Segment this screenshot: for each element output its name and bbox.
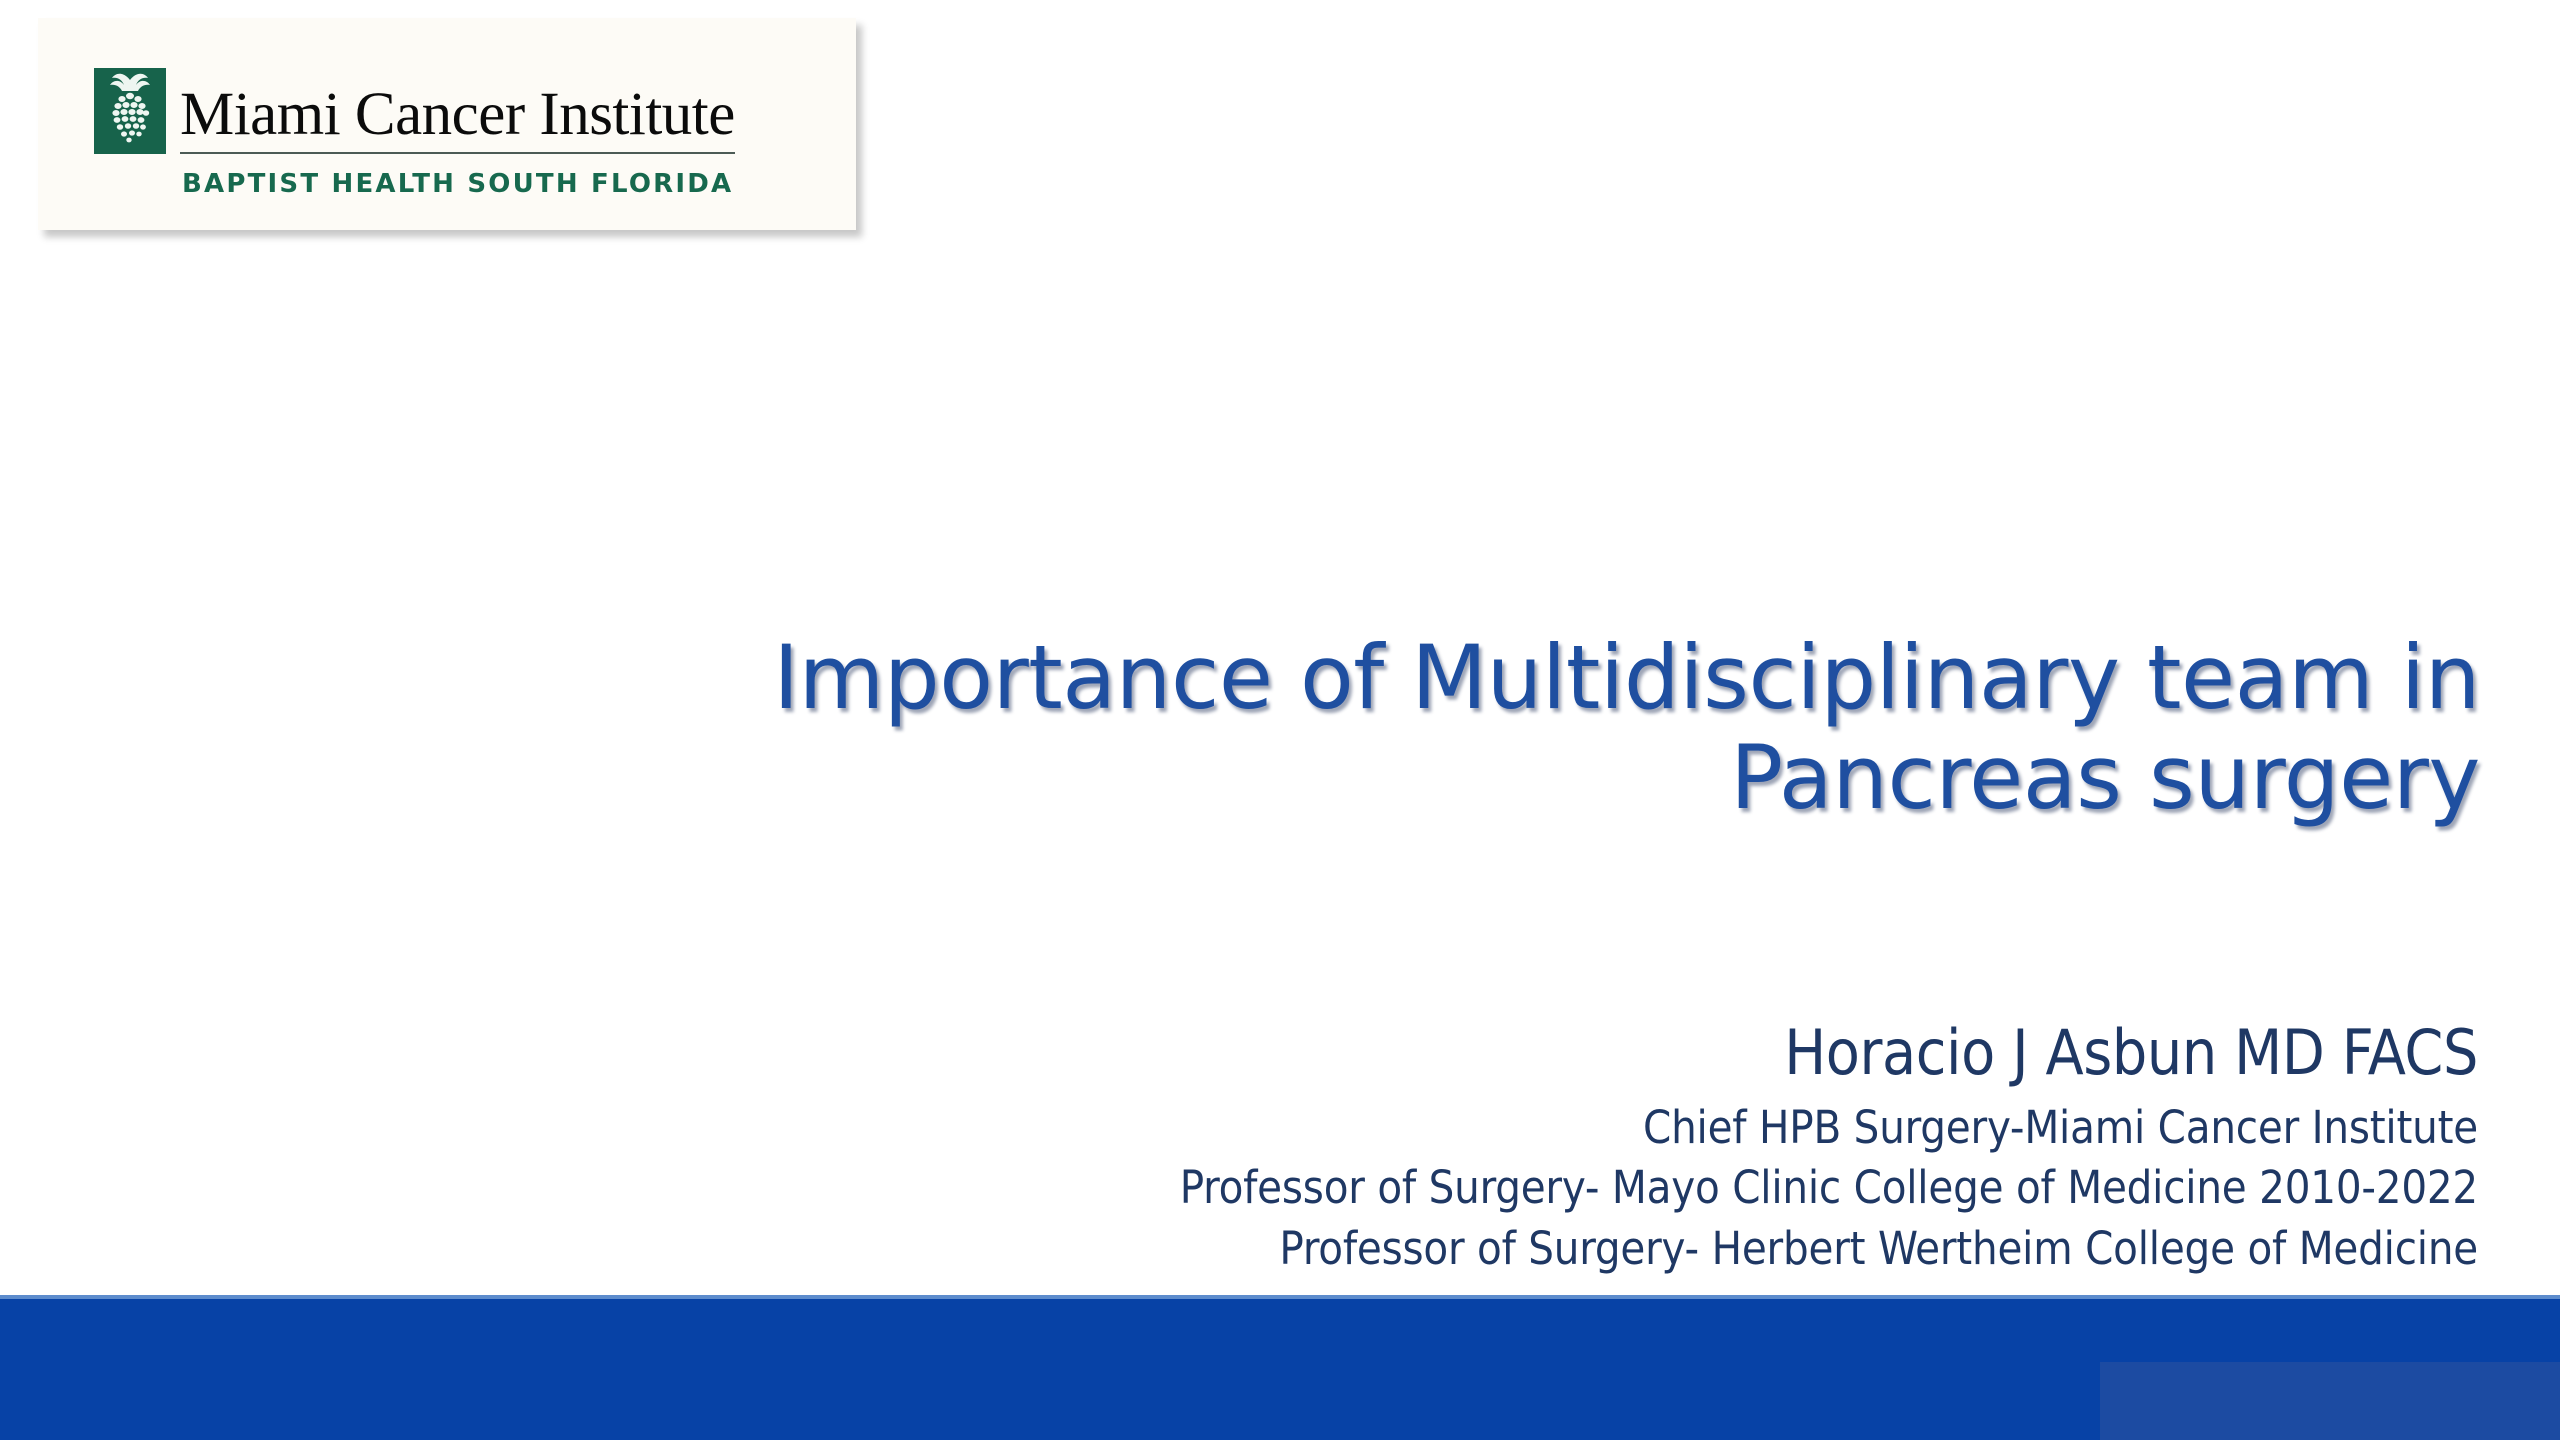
logo-content: Miami Cancer Institute BAPTIST HEALTH SO…: [94, 68, 735, 199]
author-name: Horacio J Asbun MD FACS: [478, 1022, 2478, 1084]
pineapple-icon: [94, 68, 166, 154]
footer-accent-block: [2100, 1362, 2560, 1440]
institution-logo-card: Miami Cancer Institute BAPTIST HEALTH SO…: [38, 18, 856, 230]
page-title: Importance of Multidisciplinary team in …: [500, 628, 2480, 829]
author-affiliation-line: Professor of Surgery- Mayo Clinic Colleg…: [478, 1160, 2478, 1216]
author-affiliation-line: Professor of Surgery- Herbert Wertheim C…: [478, 1221, 2478, 1277]
author-block: Horacio J Asbun MD FACS Chief HPB Surger…: [478, 1022, 2478, 1277]
logo-tagline: BAPTIST HEALTH SOUTH FLORIDA: [182, 169, 733, 199]
author-affiliation-line: Chief HPB Surgery-Miami Cancer Institute: [478, 1100, 2478, 1156]
logo-wordmark: Miami Cancer Institute: [180, 85, 735, 145]
logo-wordmark-wrap: Miami Cancer Institute: [180, 85, 735, 154]
footer-band-top-edge: [0, 1295, 2560, 1299]
logo-primary-row: Miami Cancer Institute: [94, 68, 735, 154]
title-block: Importance of Multidisciplinary team in …: [500, 628, 2480, 829]
logo-divider-rule: [180, 152, 735, 154]
title-slide: Miami Cancer Institute BAPTIST HEALTH SO…: [0, 0, 2560, 1440]
footer-band: [0, 1295, 2560, 1440]
